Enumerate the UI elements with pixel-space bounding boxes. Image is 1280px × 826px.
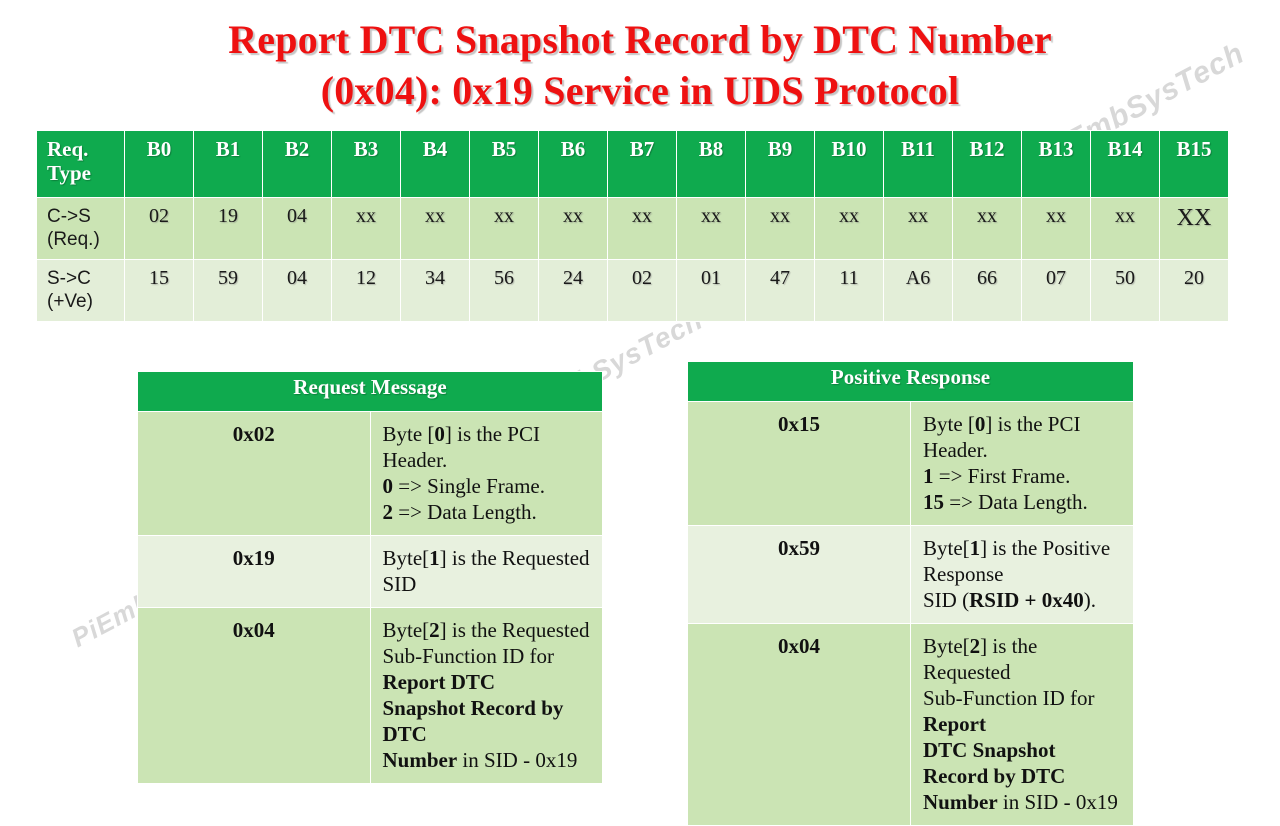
column-header-req-type: Req. Type <box>37 131 125 198</box>
detail-row: 0x02Byte [0] is the PCI Header.0 => Sing… <box>138 412 603 536</box>
column-header-b6: B6 <box>539 131 608 198</box>
column-header-b0: B0 <box>125 131 194 198</box>
cell-request-b9: xx <box>746 198 815 260</box>
cell-response-b4: 34 <box>401 260 470 322</box>
detail-row-code: 0x19 <box>138 536 371 608</box>
cell-response-b6: 24 <box>539 260 608 322</box>
request-message-header-row: Request Message <box>138 372 603 412</box>
detail-row-description: Byte[2] is the RequestedSub-Function ID … <box>911 624 1134 826</box>
cell-request-b8: xx <box>677 198 746 260</box>
row-label-request-line-1: C->S <box>47 206 91 227</box>
cell-response-b1: 59 <box>194 260 263 322</box>
table-row-request: C->S (Req.) 02 19 04 xx xx xx xx xx xx x… <box>37 198 1229 260</box>
page-title-line-1: Report DTC Snapshot Record by DTC Number <box>0 14 1280 65</box>
cell-response-b7: 02 <box>608 260 677 322</box>
cell-request-b3: xx <box>332 198 401 260</box>
cell-request-b7: xx <box>608 198 677 260</box>
cell-response-b9: 47 <box>746 260 815 322</box>
cell-request-b5: xx <box>470 198 539 260</box>
detail-row-code: 0x04 <box>688 624 911 826</box>
detail-row-code: 0x15 <box>688 402 911 526</box>
request-message-heading: Request Message <box>138 372 603 412</box>
detail-row: 0x04Byte[2] is the RequestedSub-Function… <box>138 608 603 784</box>
column-header-b11: B11 <box>884 131 953 198</box>
detail-row-description: Byte [0] is the PCI Header.0 => Single F… <box>370 412 603 536</box>
column-header-b3: B3 <box>332 131 401 198</box>
column-header-b8: B8 <box>677 131 746 198</box>
row-label-request-line-2: (Req.) <box>47 229 100 250</box>
cell-request-b4: xx <box>401 198 470 260</box>
cell-response-b3: 12 <box>332 260 401 322</box>
detail-row-description: Byte[2] is the RequestedSub-Function ID … <box>370 608 603 784</box>
detail-row: 0x04Byte[2] is the RequestedSub-Function… <box>688 624 1134 826</box>
positive-response-table: Positive Response 0x15Byte [0] is the PC… <box>687 361 1134 826</box>
cell-request-b0: 02 <box>125 198 194 260</box>
detail-row: 0x19Byte[1] is the Requested SID <box>138 536 603 608</box>
column-header-b4: B4 <box>401 131 470 198</box>
cell-response-b14: 50 <box>1091 260 1160 322</box>
cell-response-b13: 07 <box>1022 260 1091 322</box>
detail-row-code: 0x04 <box>138 608 371 784</box>
detail-row: 0x59Byte[1] is the Positive ResponseSID … <box>688 526 1134 624</box>
cell-request-b12: xx <box>953 198 1022 260</box>
cell-response-b10: 11 <box>815 260 884 322</box>
column-header-b14: B14 <box>1091 131 1160 198</box>
detail-row-description: Byte[1] is the Requested SID <box>370 536 603 608</box>
positive-response-header-row: Positive Response <box>688 362 1134 402</box>
row-label-response-line-2: (+Ve) <box>47 291 93 312</box>
cell-request-b6: xx <box>539 198 608 260</box>
cell-response-b11: A6 <box>884 260 953 322</box>
detail-row-code: 0x02 <box>138 412 371 536</box>
detail-row-code: 0x59 <box>688 526 911 624</box>
cell-request-b1: 19 <box>194 198 263 260</box>
cell-response-b5: 56 <box>470 260 539 322</box>
column-header-b7: B7 <box>608 131 677 198</box>
column-header-b2: B2 <box>263 131 332 198</box>
column-header-b15: B15 <box>1160 131 1229 198</box>
cell-request-b15: XX <box>1160 198 1229 260</box>
byte-layout-table: Req. Type B0 B1 B2 B3 B4 B5 B6 B7 B8 B9 … <box>36 130 1229 322</box>
cell-request-b14: xx <box>1091 198 1160 260</box>
cell-response-b12: 66 <box>953 260 1022 322</box>
request-message-body: 0x02Byte [0] is the PCI Header.0 => Sing… <box>138 412 603 784</box>
cell-response-b15: 20 <box>1160 260 1229 322</box>
positive-response-body: 0x15Byte [0] is the PCI Header.1 => Firs… <box>688 402 1134 826</box>
positive-response-heading: Positive Response <box>688 362 1134 402</box>
column-header-b12: B12 <box>953 131 1022 198</box>
detail-row: 0x15Byte [0] is the PCI Header.1 => Firs… <box>688 402 1134 526</box>
column-header-b13: B13 <box>1022 131 1091 198</box>
page-title: Report DTC Snapshot Record by DTC Number… <box>0 14 1280 116</box>
column-header-b9: B9 <box>746 131 815 198</box>
cell-request-b11: xx <box>884 198 953 260</box>
detail-row-description: Byte[1] is the Positive ResponseSID (RSI… <box>911 526 1134 624</box>
cell-request-b2: 04 <box>263 198 332 260</box>
req-type-head-line-2: Type <box>47 161 91 185</box>
cell-request-b10: xx <box>815 198 884 260</box>
table-row-response: S->C (+Ve) 15 59 04 12 34 56 24 02 01 47… <box>37 260 1229 322</box>
byte-table-header-row: Req. Type B0 B1 B2 B3 B4 B5 B6 B7 B8 B9 … <box>37 131 1229 198</box>
cell-request-b13: xx <box>1022 198 1091 260</box>
column-header-b10: B10 <box>815 131 884 198</box>
cell-response-b8: 01 <box>677 260 746 322</box>
request-message-table: Request Message 0x02Byte [0] is the PCI … <box>137 371 603 784</box>
row-label-response: S->C (+Ve) <box>37 260 125 322</box>
cell-response-b2: 04 <box>263 260 332 322</box>
row-label-request: C->S (Req.) <box>37 198 125 260</box>
column-header-b1: B1 <box>194 131 263 198</box>
req-type-head-line-1: Req. <box>47 137 88 161</box>
column-header-b5: B5 <box>470 131 539 198</box>
row-label-response-line-1: S->C <box>47 268 91 289</box>
cell-response-b0: 15 <box>125 260 194 322</box>
page-title-line-2: (0x04): 0x19 Service in UDS Protocol <box>0 65 1280 116</box>
detail-row-description: Byte [0] is the PCI Header.1 => First Fr… <box>911 402 1134 526</box>
